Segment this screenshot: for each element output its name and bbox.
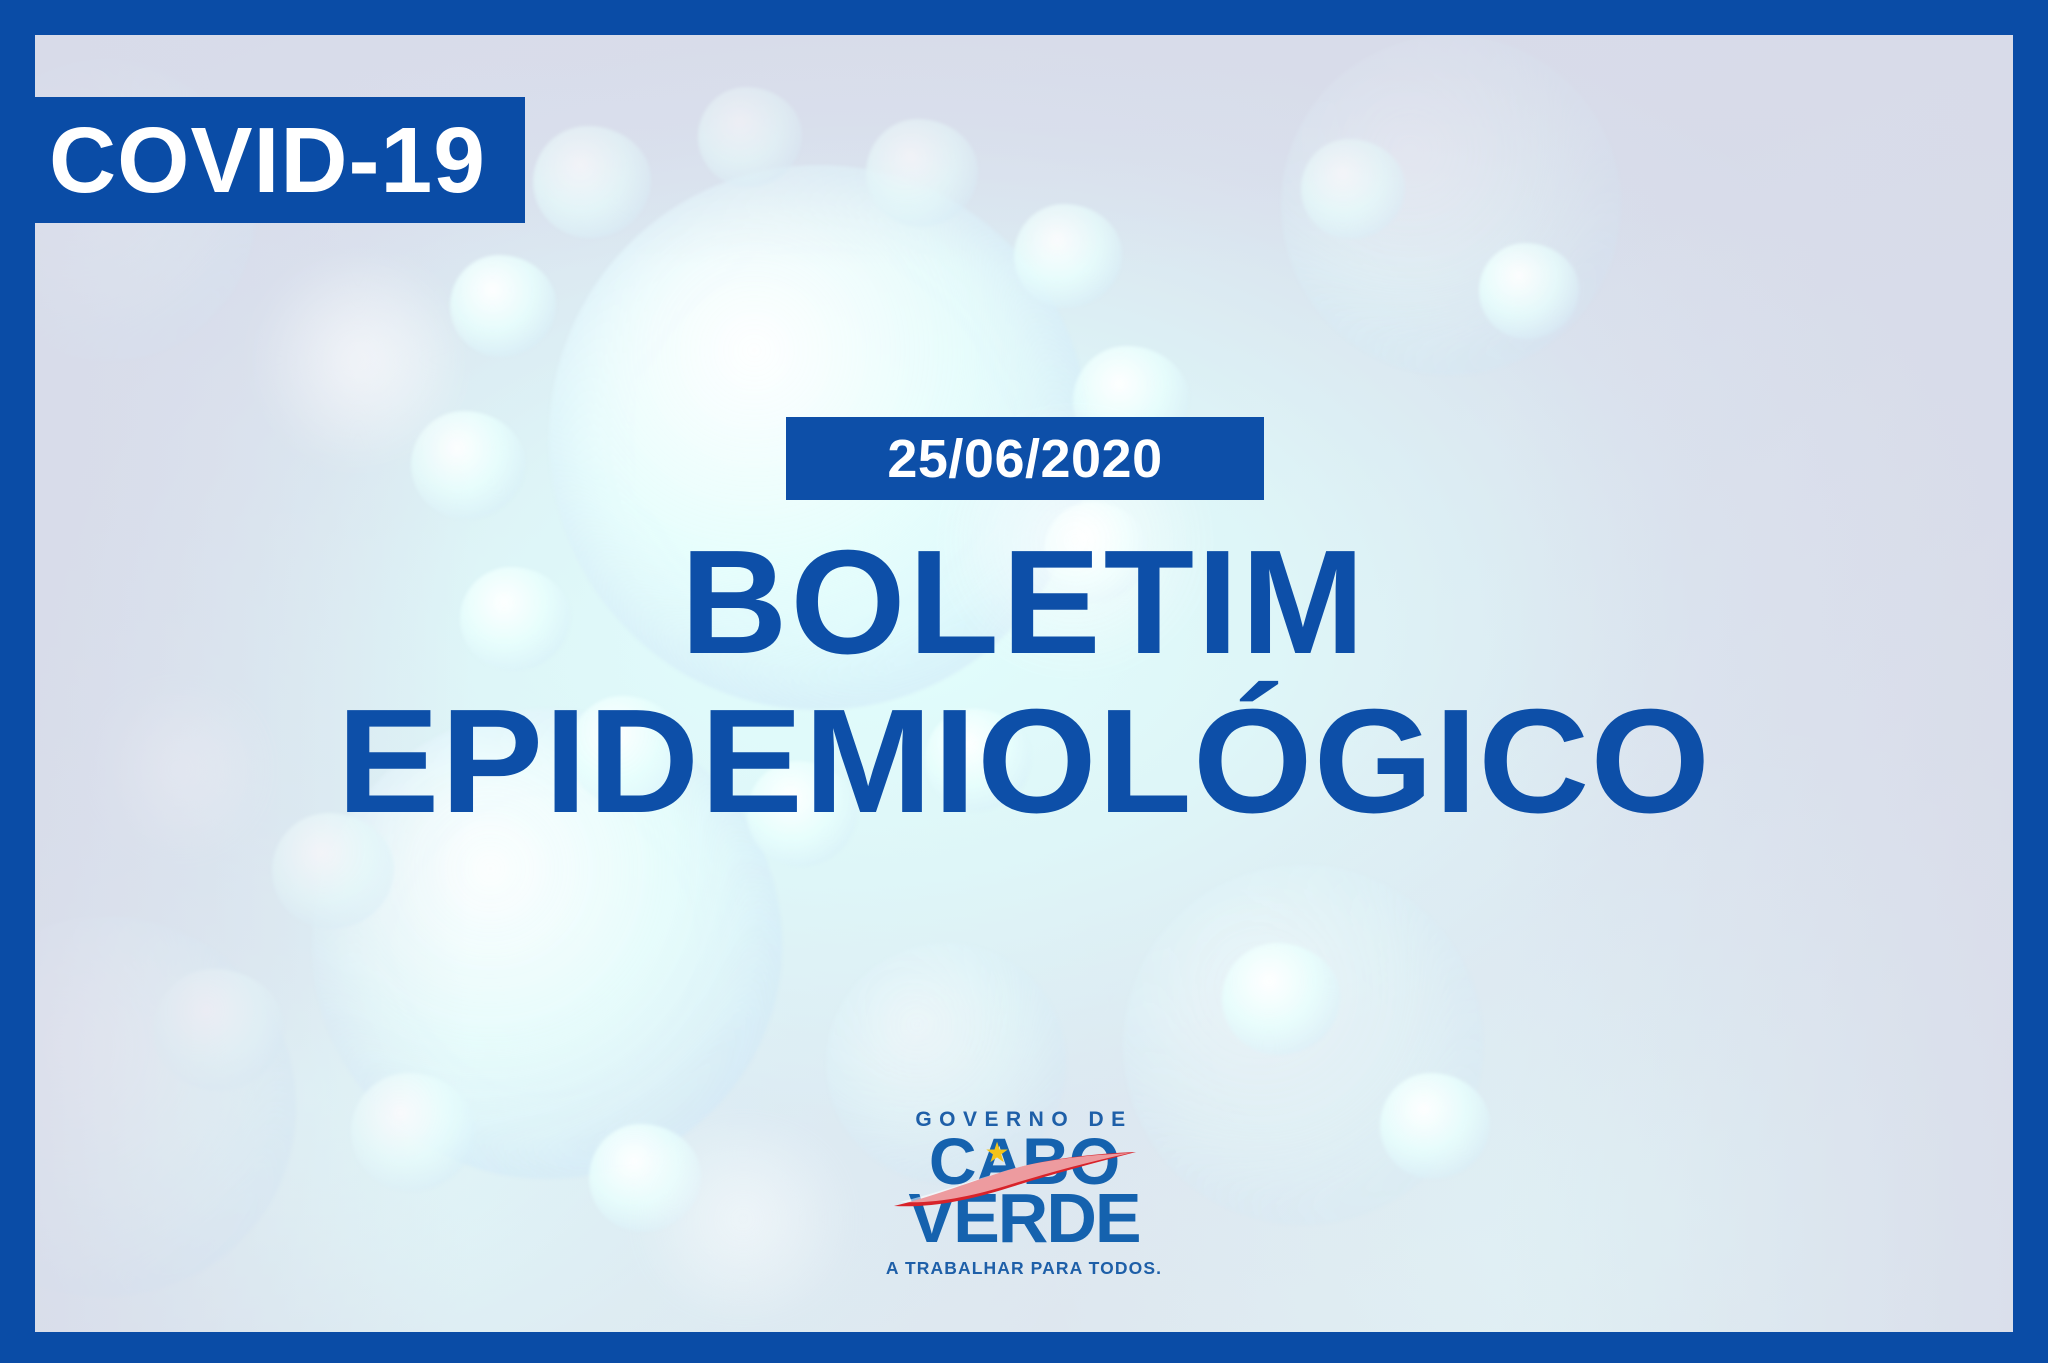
- poster-root: COVID-19 25/06/2020 BOLETIM EPIDEMIOLÓGI…: [0, 0, 2048, 1363]
- date-badge: 25/06/2020: [786, 417, 1264, 500]
- title-line-1: BOLETIM: [0, 530, 2048, 675]
- logo-tagline: A TRABALHAR PARA TODOS.: [854, 1258, 1194, 1279]
- covid-badge-label: COVID-19: [49, 114, 486, 207]
- covid-badge: COVID-19: [0, 97, 525, 223]
- page-title: BOLETIM EPIDEMIOLÓGICO: [0, 530, 2048, 834]
- title-line-2: EPIDEMIOLÓGICO: [0, 689, 2048, 834]
- logo-word-verde: VERDE: [874, 1189, 1174, 1248]
- government-logo: GOVERNO DE ★ CABO VERDE A TRABALHAR PARA…: [854, 1108, 1194, 1279]
- logo-wordmark: ★ CABO VERDE: [874, 1134, 1174, 1248]
- star-icon: ★: [984, 1140, 1010, 1166]
- date-badge-label: 25/06/2020: [887, 432, 1162, 486]
